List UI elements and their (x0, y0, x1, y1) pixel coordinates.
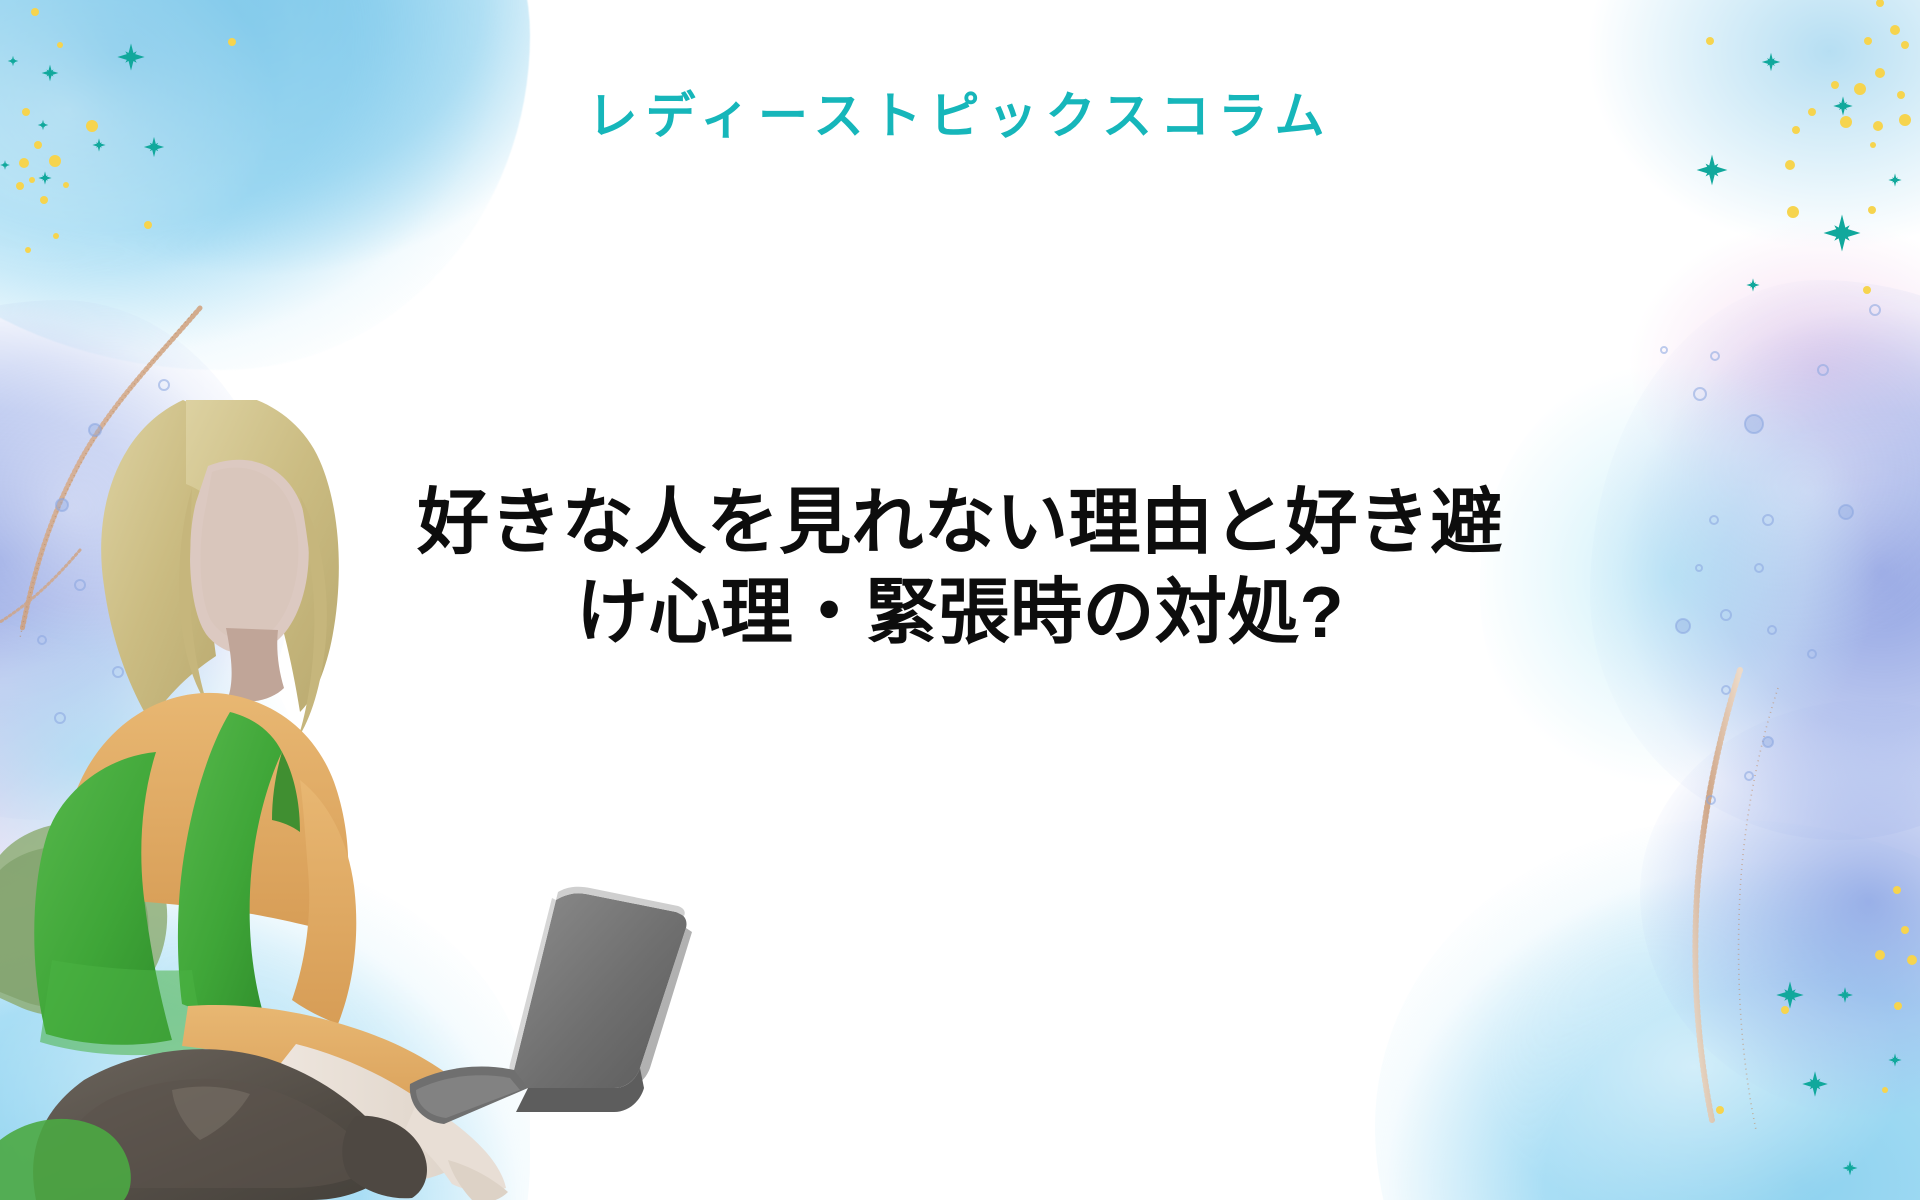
watercolor-bottom-right (1375, 820, 1920, 1200)
watercolor-right-periwinkle (1590, 280, 1920, 840)
page-category-title: レディーストピックスコラム (0, 76, 1920, 148)
watercolor-right-periwinkle-lower (1640, 700, 1920, 1120)
page-headline: 好きな人を見れない理由と好き避 け心理・緊張時の対処? (300, 478, 1620, 658)
neck (226, 628, 284, 702)
watercolor-top-right (1400, 0, 1920, 380)
watercolor-right-pink (1630, 210, 1920, 530)
laptop-screen-back (514, 893, 687, 1088)
headline-line-2: け心理・緊張時の対処? (300, 568, 1620, 658)
laptop (410, 887, 692, 1124)
banner-canvas: レディーストピックスコラム 好きな人を見れない理由と好き避 け心理・緊張時の対処… (0, 0, 1920, 1200)
glitter-strand-right (1600, 660, 1920, 1140)
watercolor-top-left (0, 0, 530, 370)
headline-line-1: 好きな人を見れない理由と好き避 (300, 478, 1620, 568)
